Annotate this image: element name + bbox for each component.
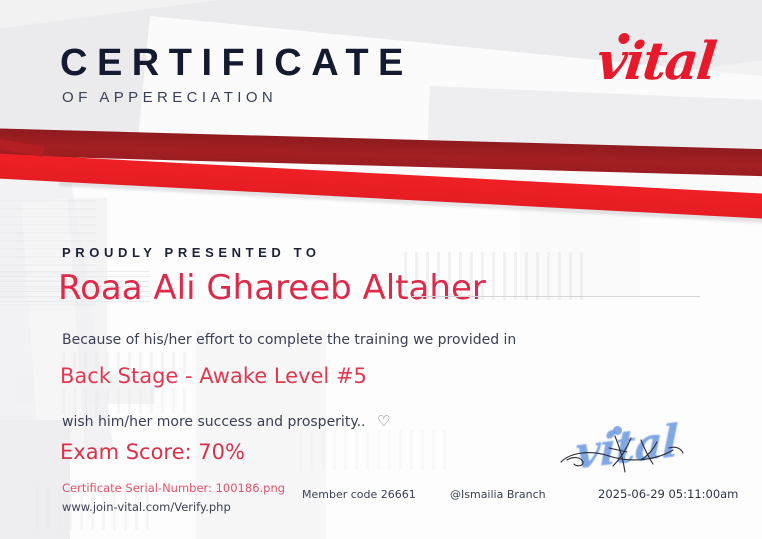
vital-stamp: vital bbox=[565, 420, 725, 490]
member-code: Member code 26661 bbox=[302, 488, 416, 501]
recipient-name: Roaa Ali Ghareeb Altaher bbox=[58, 268, 486, 308]
wish-text-container: wish him/her more success and prosperity… bbox=[62, 412, 390, 430]
logo-text: vital bbox=[593, 31, 717, 92]
presented-to-label: PROUDLY PRESENTED TO bbox=[62, 245, 321, 260]
branch-name: @Ismailia Branch bbox=[450, 488, 546, 501]
certificate-serial-number: Certificate Serial-Number: 100186.png bbox=[62, 481, 285, 495]
vital-logo-icon: vital bbox=[594, 36, 717, 88]
name-underline-rule bbox=[412, 296, 700, 297]
exam-score: Exam Score: 70% bbox=[60, 440, 245, 464]
certificate-document: 1 CERTIFICATE OF APPERECIATION vital PRO… bbox=[0, 0, 762, 539]
watermark-texture bbox=[300, 430, 450, 470]
course-name: Back Stage - Awake Level #5 bbox=[60, 364, 367, 388]
reason-text: Because of his/her effort to complete th… bbox=[62, 332, 516, 348]
heart-icon: ♡ bbox=[377, 412, 390, 430]
signature-mark-icon bbox=[557, 426, 732, 486]
page-subtitle: OF APPERECIATION bbox=[62, 89, 277, 106]
page-title: CERTIFICATE bbox=[60, 42, 413, 85]
watermark-texture bbox=[62, 388, 190, 414]
verify-url-link[interactable]: www.join-vital.com/Verify.php bbox=[62, 500, 231, 514]
wish-text: wish him/her more success and prosperity… bbox=[62, 414, 366, 430]
